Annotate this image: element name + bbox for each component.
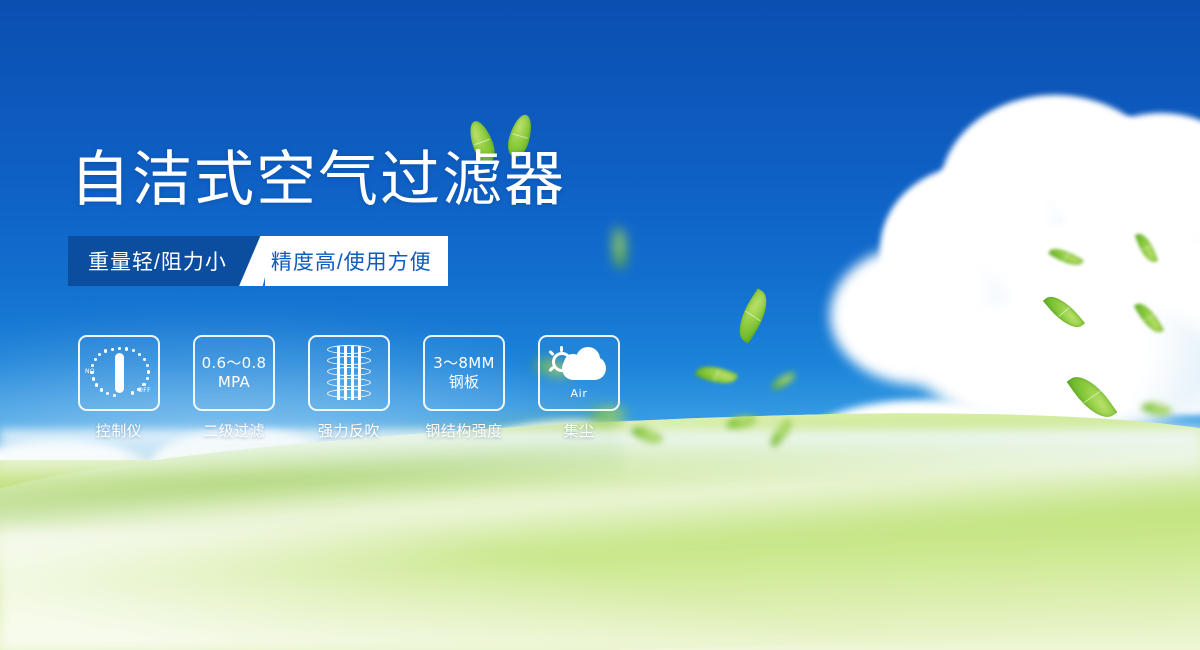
feature-label: 钢结构强度 [425,420,503,441]
pressure-value: 0.6～0.8 [202,354,267,372]
product-banner: 自洁式空气过滤器 重量轻/阻力小 精度高/使用方便 NO OFF [0,0,1200,650]
grass-highlight [0,530,1200,650]
feature-label: 强力反吹 [318,420,380,441]
subtitle-left-badge: 重量轻/阻力小 [68,236,245,286]
coil-spiral-icon [324,343,374,403]
pressure-text-icon: 0.6～0.8 MPA [202,354,267,392]
steel-material: 钢板 [433,373,494,392]
feature-label: 控制仪 [96,420,143,441]
feature-icon-box: 3～8MM 钢板 [423,335,505,411]
subtitle-bar: 重量轻/阻力小 精度高/使用方便 [68,236,460,286]
feature-item-dust[interactable]: Air 集尘 [538,335,620,441]
feature-icon-box: Air [538,335,620,411]
feature-item-control[interactable]: NO OFF [78,335,160,441]
steel-plate-text-icon: 3～8MM 钢板 [433,354,494,392]
feature-item-blowback[interactable]: 强力反吹 [308,335,390,441]
subtitle-right-badge: 精度高/使用方便 [265,236,448,286]
cumulus-cloud-right [820,95,1200,425]
feature-label: 集尘 [563,420,594,441]
air-cloud-icon [550,346,608,384]
steel-thickness: 3～8MM [433,354,494,372]
feature-icon-box: 0.6～0.8 MPA [193,335,275,411]
air-label: Air [571,387,588,400]
feature-label: 二级过滤 [203,420,265,441]
page-title: 自洁式空气过滤器 [70,146,566,214]
feature-item-steel[interactable]: 3～8MM 钢板 钢结构强度 [423,335,505,441]
feature-list: NO OFF [78,335,620,441]
gauge-needle [115,353,124,393]
pressure-unit: MPA [202,373,267,392]
feature-icon-box: NO OFF [78,335,160,411]
gauge-dial-icon: NO OFF [85,341,153,405]
feature-icon-box [308,335,390,411]
feature-item-pressure[interactable]: 0.6～0.8 MPA 二级过滤 [193,335,275,441]
